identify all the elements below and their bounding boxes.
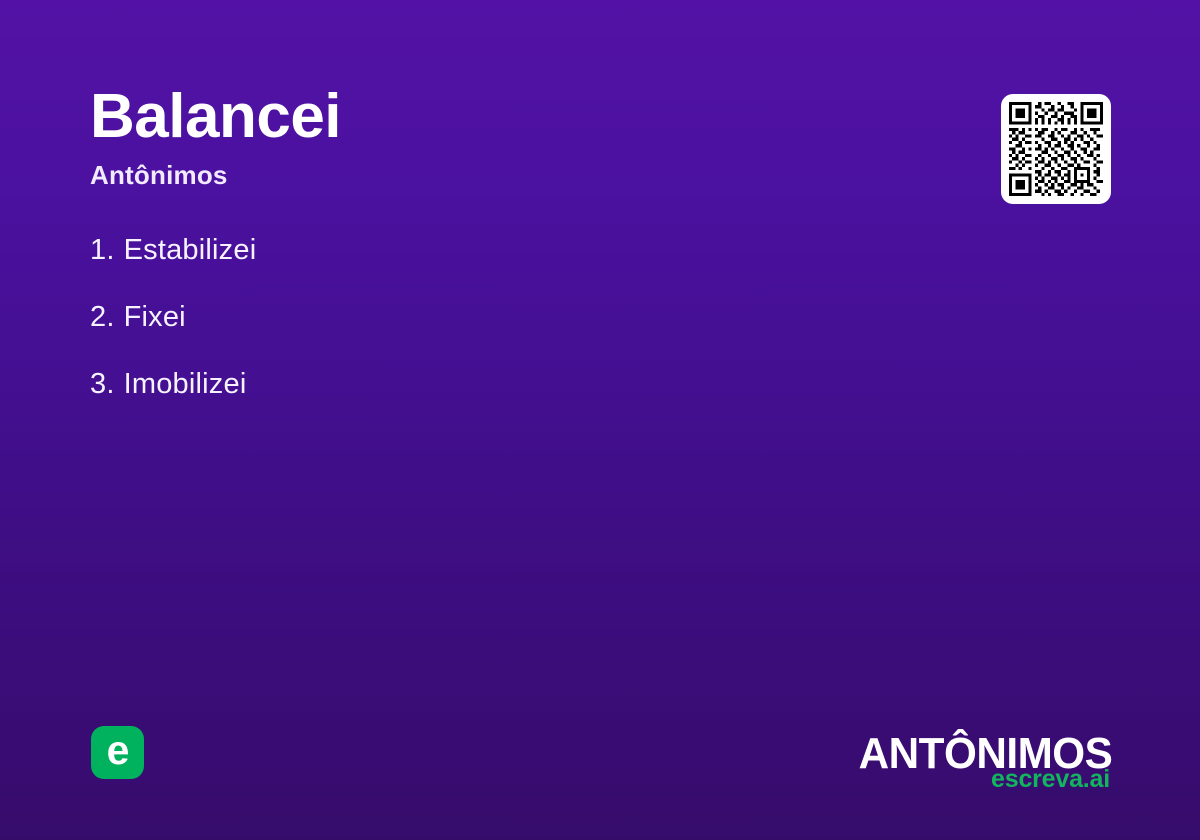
qr-code-card[interactable] — [1001, 94, 1111, 204]
list-item-index: 1. — [90, 236, 115, 265]
wordmark-title: ANTÔNIMOS — [858, 732, 1112, 776]
page-title: Balancei — [90, 86, 890, 148]
antonym-list: 1.Estabilizei 2.Fixei 3.Imobilizei — [90, 236, 950, 399]
list-item: 1.Estabilizei — [90, 236, 950, 265]
escreva-logo-letter: e — [107, 730, 129, 771]
escreva-logo-tile[interactable]: e — [91, 726, 144, 779]
list-item-word: Imobilizei — [124, 368, 247, 400]
page-subtitle: Antônimos — [90, 162, 890, 188]
list-item-word: Fixei — [124, 301, 186, 333]
list-item-word: Estabilizei — [124, 234, 257, 266]
antonimos-wordmark: ANTÔNIMOS escreva.ai — [848, 732, 1112, 792]
list-item-index: 3. — [90, 370, 115, 399]
qr-code-icon — [1009, 102, 1103, 196]
list-item: 3.Imobilizei — [90, 370, 950, 399]
antonyms-card: Balancei Antônimos 1.Estabilizei 2.Fixei… — [0, 0, 1200, 840]
list-item: 2.Fixei — [90, 303, 950, 332]
list-item-index: 2. — [90, 303, 115, 332]
card-header: Balancei Antônimos — [90, 86, 890, 188]
